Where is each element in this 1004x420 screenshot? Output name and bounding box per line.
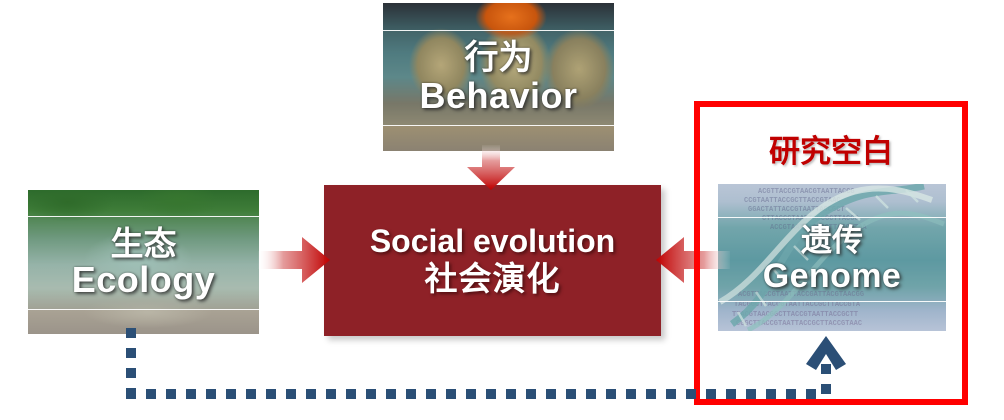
center-label-en: Social evolution [370,223,615,259]
ecology-label-cn: 生态 [111,226,177,262]
ecology-caption-band: 生态 Ecology [28,216,259,310]
node-behavior[interactable]: 行为 Behavior [383,3,614,151]
research-gap-label: 研究空白 [694,126,968,171]
behavior-label-cn: 行为 [465,40,533,77]
center-label-cn: 社会演化 [425,260,561,298]
behavior-label-en: Behavior [419,77,577,116]
arrow-behavior-to-center-icon [464,145,518,191]
ecology-label-en: Ecology [72,261,216,300]
diagram-canvas: 行为 Behavior 生态 Ecology ACGTTACCGTAACGTAA… [0,0,1004,420]
dotted-path-ecology-to-genome-icon [120,320,860,412]
arrow-ecology-to-center-icon [258,233,332,287]
node-ecology[interactable]: 生态 Ecology [28,190,259,334]
node-social-evolution[interactable]: Social evolution 社会演化 [324,185,661,336]
behavior-caption-band: 行为 Behavior [383,30,614,126]
